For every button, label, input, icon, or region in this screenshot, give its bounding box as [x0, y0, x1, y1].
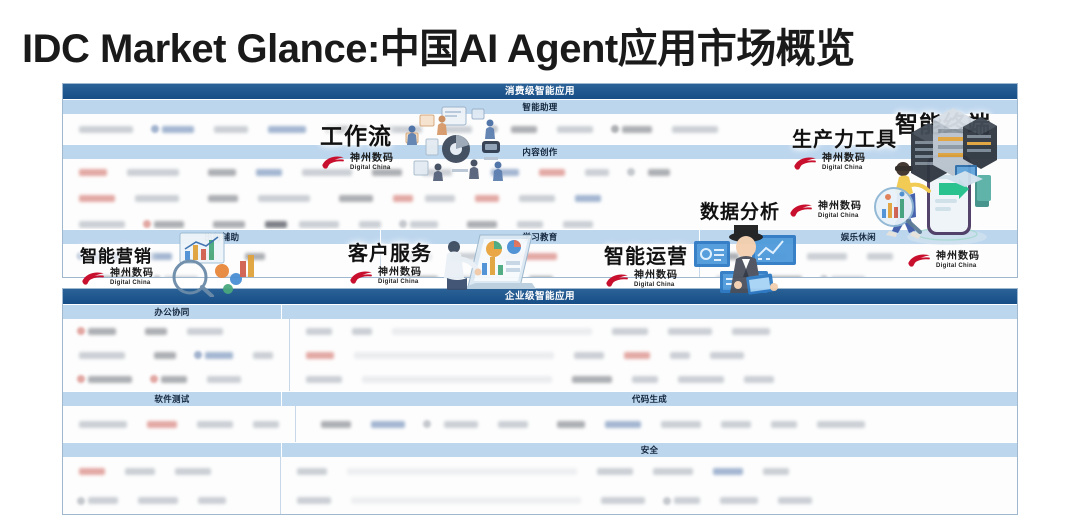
vendor-logo — [88, 328, 116, 335]
logo-column-learning-edu — [381, 244, 699, 278]
vendor-logo — [517, 221, 543, 228]
vendor-logo — [208, 169, 236, 176]
vendor-logo — [410, 221, 438, 228]
vendor-logo — [475, 195, 499, 202]
logo-row — [63, 268, 380, 278]
vendor-logo — [253, 352, 273, 359]
vendor-logo — [519, 195, 555, 202]
brand-name-en: Digital China — [110, 280, 154, 286]
vendor-logo — [213, 221, 245, 228]
vendor-logo — [467, 221, 497, 228]
category-bar-office-row: 办公协同 — [63, 304, 1017, 319]
vendor-logo — [134, 327, 142, 335]
vendor-logo — [597, 468, 633, 475]
category-bar-office-collab: 办公协同 — [63, 305, 282, 319]
vendor-logo — [214, 126, 248, 133]
vendor-logo — [194, 351, 202, 359]
vendor-logo — [831, 276, 865, 279]
vendor-logo — [574, 352, 604, 359]
vendor-logo — [820, 275, 828, 278]
vendor-logo — [79, 195, 115, 202]
vendor-logo — [326, 126, 366, 133]
category-bar-entertainment: 娱乐休闲 — [700, 230, 1017, 244]
category-bar-blank-1 — [282, 305, 1017, 319]
vendor-logo — [202, 220, 210, 228]
vendor-logo — [143, 351, 151, 359]
vendor-logo — [778, 497, 812, 504]
category-bar-software-testing: 软件测试 — [63, 392, 282, 406]
logo-row — [63, 406, 295, 442]
vendor-logo — [147, 421, 177, 428]
logo-row — [63, 319, 289, 343]
vendor-logo — [197, 194, 205, 202]
vendor-logo — [611, 125, 619, 133]
vendor-logo — [423, 420, 431, 428]
vendor-logo — [546, 420, 554, 428]
logo-grid-triple — [63, 244, 1017, 278]
vendor-logo — [253, 421, 279, 428]
vendor-logo — [425, 195, 455, 202]
vendor-logo — [817, 421, 865, 428]
vendor-logo — [661, 421, 701, 428]
vendor-logo — [732, 328, 770, 335]
logo-row — [63, 114, 1017, 144]
vendor-logo — [372, 169, 402, 176]
vendor-logo — [714, 252, 722, 260]
vendor-logo — [77, 497, 85, 505]
vendor-logo — [563, 221, 593, 228]
category-bar-travel-assist: 出行辅助 — [63, 230, 381, 244]
vendor-logo — [79, 221, 125, 228]
category-bar-code-generation: 代码生成 — [282, 392, 1017, 406]
vendor-logo — [759, 253, 787, 260]
vendor-logo — [672, 126, 718, 133]
vendor-logo — [208, 195, 238, 202]
vendor-logo — [150, 375, 158, 383]
vendor-logo — [306, 376, 342, 383]
vendor-logo — [143, 220, 151, 228]
vendor-logo — [77, 252, 85, 260]
vendor-logo — [145, 328, 167, 335]
vendor-logo — [392, 328, 592, 335]
vendor-logo — [218, 276, 250, 279]
logo-column-code-generation — [296, 406, 1017, 442]
vendor-logo — [678, 376, 724, 383]
vendor-logo — [79, 169, 107, 176]
vendor-logo — [670, 352, 690, 359]
vendor-logo — [198, 497, 226, 504]
vendor-logo — [302, 169, 352, 176]
vendor-logo — [668, 328, 712, 335]
vendor-logo — [256, 169, 282, 176]
vendor-logo — [88, 376, 132, 383]
category-bar-triple: 出行辅助 学习教育 娱乐休闲 — [63, 229, 1017, 244]
enterprise-section-panel: 企业级智能应用 办公协同 — [62, 288, 1018, 515]
vendor-logo — [79, 352, 125, 359]
logo-row — [63, 211, 1017, 229]
vendor-logo — [501, 253, 557, 260]
vendor-logo — [352, 328, 372, 335]
logo-row — [290, 343, 1017, 367]
vendor-logo — [605, 421, 641, 428]
vendor-logo — [192, 253, 216, 260]
vendor-logo — [511, 126, 537, 133]
vendor-logo — [88, 253, 122, 260]
vendor-logo — [716, 276, 746, 279]
vendor-logo — [79, 468, 105, 475]
vendor-logo — [713, 468, 743, 475]
vendor-logo — [456, 220, 464, 228]
vendor-logo — [744, 376, 774, 383]
vendor-logo — [142, 253, 172, 260]
logo-row — [290, 367, 1017, 391]
vendor-logo — [339, 195, 373, 202]
vendor-logo — [306, 352, 334, 359]
logo-row — [63, 457, 280, 486]
vendor-logo — [653, 468, 693, 475]
vendor-logo — [297, 497, 331, 504]
vendor-logo — [444, 421, 478, 428]
vendor-logo — [354, 352, 554, 359]
vendor-logo — [362, 376, 552, 383]
vendor-logo — [674, 497, 700, 504]
vendor-logo — [347, 468, 577, 475]
vendor-logo — [397, 253, 431, 260]
vendor-logo — [663, 497, 671, 505]
logo-row — [281, 457, 1017, 486]
consumer-section-panel: 消费级智能应用 智能助理 内容创作 — [62, 83, 1018, 278]
category-bar-content-creation: 内容创作 — [63, 144, 1017, 159]
vendor-logo — [601, 497, 645, 504]
vendor-logo — [575, 195, 601, 202]
vendor-logo — [328, 194, 336, 202]
logo-column-office-collab — [63, 319, 290, 391]
vendor-logo — [162, 126, 194, 133]
logo-grid-smart-assistant — [63, 114, 1017, 144]
vendor-logo — [207, 376, 241, 383]
vendor-logo — [710, 352, 744, 359]
vendor-logo — [371, 421, 405, 428]
vendor-logo — [135, 195, 179, 202]
category-bar-learning-edu: 学习教育 — [381, 230, 699, 244]
vendor-logo — [153, 275, 161, 278]
logo-grid-office-row — [63, 319, 1017, 391]
vendor-logo — [622, 126, 652, 133]
vendor-logo — [306, 328, 332, 335]
logo-columns — [63, 457, 1017, 515]
vendor-logo — [612, 328, 648, 335]
vendor-logo — [572, 376, 612, 383]
vendor-logo — [125, 468, 155, 475]
category-bar-test-code-row: 软件测试 代码生成 — [63, 391, 1017, 406]
logo-columns — [63, 406, 1017, 442]
vendor-logo — [310, 420, 318, 428]
vendor-logo — [632, 376, 658, 383]
vendor-logo — [518, 275, 526, 278]
vendor-logo — [127, 169, 179, 176]
category-bar-smart-assistant: 智能助理 — [63, 99, 1017, 114]
vendor-logo — [490, 125, 498, 133]
vendor-logo — [498, 421, 528, 428]
vendor-logo — [648, 169, 670, 176]
vendor-logo — [187, 328, 223, 335]
vendor-logo — [77, 375, 85, 383]
logo-row — [381, 244, 698, 268]
vendor-logo — [245, 253, 265, 260]
category-bar-security: 安全 — [282, 443, 1017, 457]
logo-column-entertainment — [700, 244, 1017, 278]
vendor-logo — [458, 276, 500, 279]
vendor-logo — [585, 169, 609, 176]
logo-column-travel-assist — [63, 244, 381, 278]
consumer-section-header: 消费级智能应用 — [63, 84, 1017, 99]
logo-row — [700, 244, 1017, 268]
logo-column-software-testing — [63, 406, 296, 442]
brand-name-en: Digital China — [378, 279, 422, 285]
vendor-logo — [299, 221, 339, 228]
vendor-logo — [258, 195, 310, 202]
logo-row — [281, 486, 1017, 515]
vendor-logo — [197, 168, 205, 176]
vendor-logo — [491, 169, 519, 176]
vendor-logo — [234, 252, 242, 260]
logo-grid-content-creation — [63, 159, 1017, 229]
vendor-logo — [867, 253, 893, 260]
logo-row — [63, 185, 1017, 211]
vendor-logo — [720, 497, 758, 504]
logo-row — [700, 268, 1017, 278]
vendor-logo — [557, 421, 585, 428]
vendor-logo — [627, 168, 635, 176]
vendor-logo — [470, 168, 478, 176]
logo-columns — [63, 244, 1017, 278]
logo-column-security — [281, 457, 1017, 515]
vendor-logo — [386, 126, 422, 133]
logo-column-workflow — [290, 319, 1017, 391]
vendor-logo — [359, 221, 381, 228]
vendor-logo — [164, 276, 198, 279]
vendor-logo — [151, 125, 159, 133]
vendor-logo — [395, 275, 403, 278]
vendor-logo — [268, 126, 306, 133]
vendor-logo — [539, 169, 565, 176]
category-bar-security-row: 安全 — [63, 442, 1017, 457]
vendor-logo — [79, 126, 133, 133]
vendor-logo — [161, 376, 187, 383]
vendor-logo — [205, 352, 233, 359]
vendor-logo — [79, 421, 127, 428]
vendor-logo — [529, 276, 553, 279]
logo-grid-test-code-row — [63, 406, 1017, 442]
vendor-logo — [297, 468, 327, 475]
vendor-logo — [721, 421, 751, 428]
vendor-logo — [351, 497, 581, 504]
logo-row — [63, 244, 380, 268]
logo-row — [381, 268, 698, 278]
vendor-logo — [154, 221, 184, 228]
logo-row — [63, 343, 289, 367]
logo-row — [296, 406, 1017, 442]
vendor-logo — [175, 468, 211, 475]
logo-column-smart-marketing — [63, 457, 281, 515]
vendor-logo — [442, 126, 472, 133]
vendor-logo — [138, 497, 178, 504]
logo-row — [63, 486, 280, 515]
vendor-logo — [406, 276, 438, 279]
vendor-logo — [763, 468, 789, 475]
vendor-logo — [97, 276, 135, 279]
vendor-logo — [321, 421, 351, 428]
logo-row — [63, 159, 1017, 185]
vendor-logo — [451, 253, 481, 260]
vendor-logo — [771, 421, 797, 428]
logo-grid-security-row — [63, 457, 1017, 515]
vendor-logo — [807, 253, 847, 260]
vendor-logo — [422, 169, 452, 176]
vendor-logo — [265, 221, 287, 228]
logo-columns — [63, 319, 1017, 391]
vendor-logo — [557, 126, 593, 133]
vendor-logo — [624, 352, 650, 359]
logo-row — [63, 367, 289, 391]
logo-row — [290, 319, 1017, 343]
vendor-logo — [766, 276, 802, 279]
enterprise-section-header: 企业级智能应用 — [63, 289, 1017, 304]
vendor-logo — [197, 421, 233, 428]
vendor-logo — [154, 352, 176, 359]
vendor-logo — [77, 327, 85, 335]
vendor-logo — [393, 195, 413, 202]
vendor-logo — [725, 253, 739, 260]
vendor-logo — [88, 497, 118, 504]
market-glance-chart: 消费级智能应用 智能助理 内容创作 — [62, 83, 1018, 515]
vendor-logo — [399, 220, 407, 228]
page-title: IDC Market Glance:中国AI Agent应用市场概览 — [22, 16, 855, 74]
category-bar-blank-2 — [63, 443, 282, 457]
